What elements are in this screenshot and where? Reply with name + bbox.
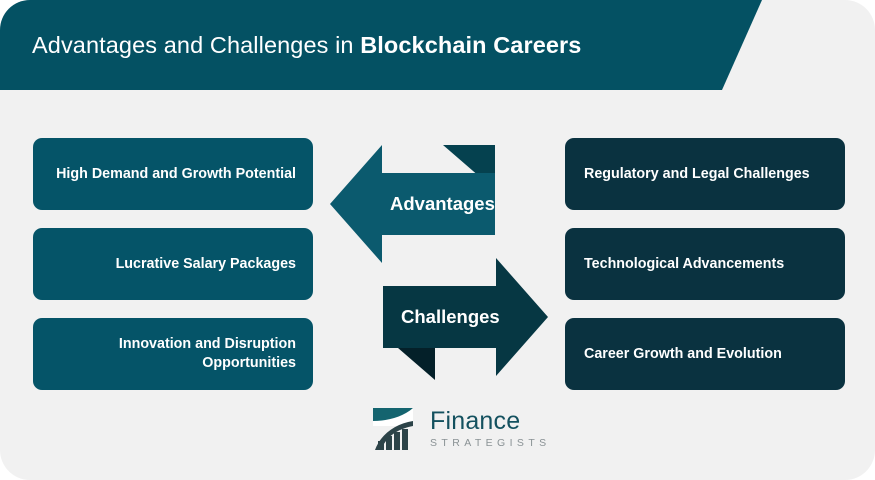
advantage-item-2-label: Lucrative Salary Packages — [116, 255, 296, 274]
logo-tagline: STRATEGISTS — [430, 438, 551, 449]
challenge-item-3-label: Career Growth and Evolution — [584, 345, 782, 364]
infographic-card: Advantages and Challenges in Blockchain … — [0, 0, 875, 480]
brand-logo[interactable]: Finance STRATEGISTS — [373, 406, 551, 452]
advantages-column: High Demand and Growth Potential Lucrati… — [33, 138, 313, 390]
challenge-item-2[interactable]: Technological Advancements — [565, 228, 845, 300]
challenges-right-arrow-icon[interactable]: Challenges — [383, 258, 548, 376]
page-title-plain: Advantages and Challenges in — [32, 32, 360, 58]
advantage-item-1-label: High Demand and Growth Potential — [56, 165, 296, 184]
page-title: Advantages and Challenges in Blockchain … — [32, 0, 581, 90]
advantage-item-3[interactable]: Innovation and Disruption Opportunities — [33, 318, 313, 390]
advantage-item-2[interactable]: Lucrative Salary Packages — [33, 228, 313, 300]
challenge-item-2-label: Technological Advancements — [584, 255, 784, 274]
logo-name: Finance — [430, 409, 551, 434]
advantage-item-1[interactable]: High Demand and Growth Potential — [33, 138, 313, 210]
page-title-bold: Blockchain Careers — [360, 32, 581, 58]
challenge-item-1[interactable]: Regulatory and Legal Challenges — [565, 138, 845, 210]
challenge-item-1-label: Regulatory and Legal Challenges — [584, 165, 810, 184]
logo-wordmark: Finance STRATEGISTS — [430, 409, 551, 449]
advantages-arrow-label: Advantages — [390, 193, 495, 215]
challenges-column: Regulatory and Legal Challenges Technolo… — [565, 138, 845, 390]
center-arrows-group: Advantages Challenges — [330, 140, 555, 380]
challenge-item-3[interactable]: Career Growth and Evolution — [565, 318, 845, 390]
challenges-arrow-label: Challenges — [401, 306, 500, 328]
header-banner: Advantages and Challenges in Blockchain … — [0, 0, 762, 90]
advantage-item-3-label: Innovation and Disruption Opportunities — [47, 335, 296, 372]
finance-strategists-bar-chart-icon — [373, 408, 421, 450]
